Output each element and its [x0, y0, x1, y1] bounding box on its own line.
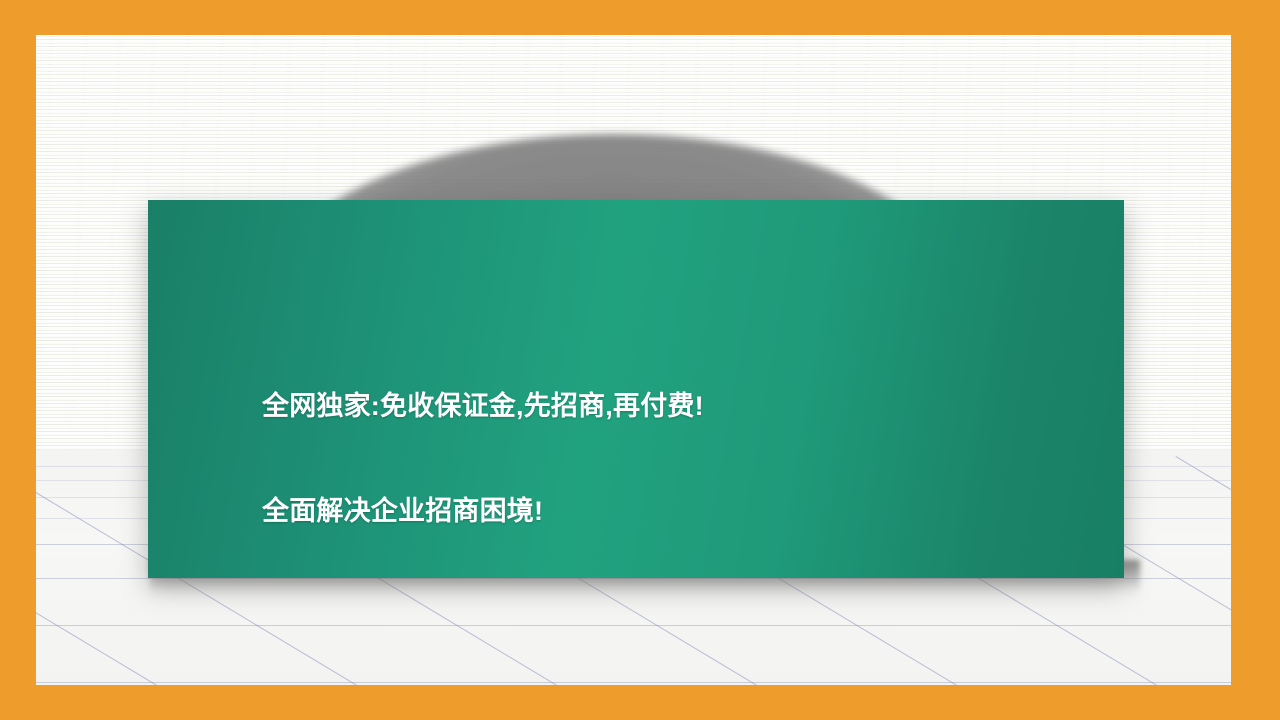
- headline-line-1: 全网独家:免收保证金,先招商,再付费!: [262, 389, 1108, 424]
- headline-line-2: 全面解决企业招商困境!: [262, 494, 1108, 529]
- paragraph-headline: 全网独家:免收保证金,先招商,再付费! 全面解决企业招商困境!: [262, 319, 1108, 599]
- promo-text-block: 全网独家:免收保证金,先招商,再付费! 全面解决企业招商困境! 合作即签订保障协…: [262, 214, 1108, 720]
- floor-seam-diagonal: [1175, 456, 1231, 685]
- promo-message-card: 全网独家:免收保证金,先招商,再付费! 全面解决企业招商困境! 合作即签订保障协…: [148, 200, 1124, 578]
- paragraph-spacer: [262, 704, 1108, 720]
- slide-stage: 全网独家:免收保证金,先招商,再付费! 全面解决企业招商困境! 合作即签订保障协…: [0, 0, 1280, 720]
